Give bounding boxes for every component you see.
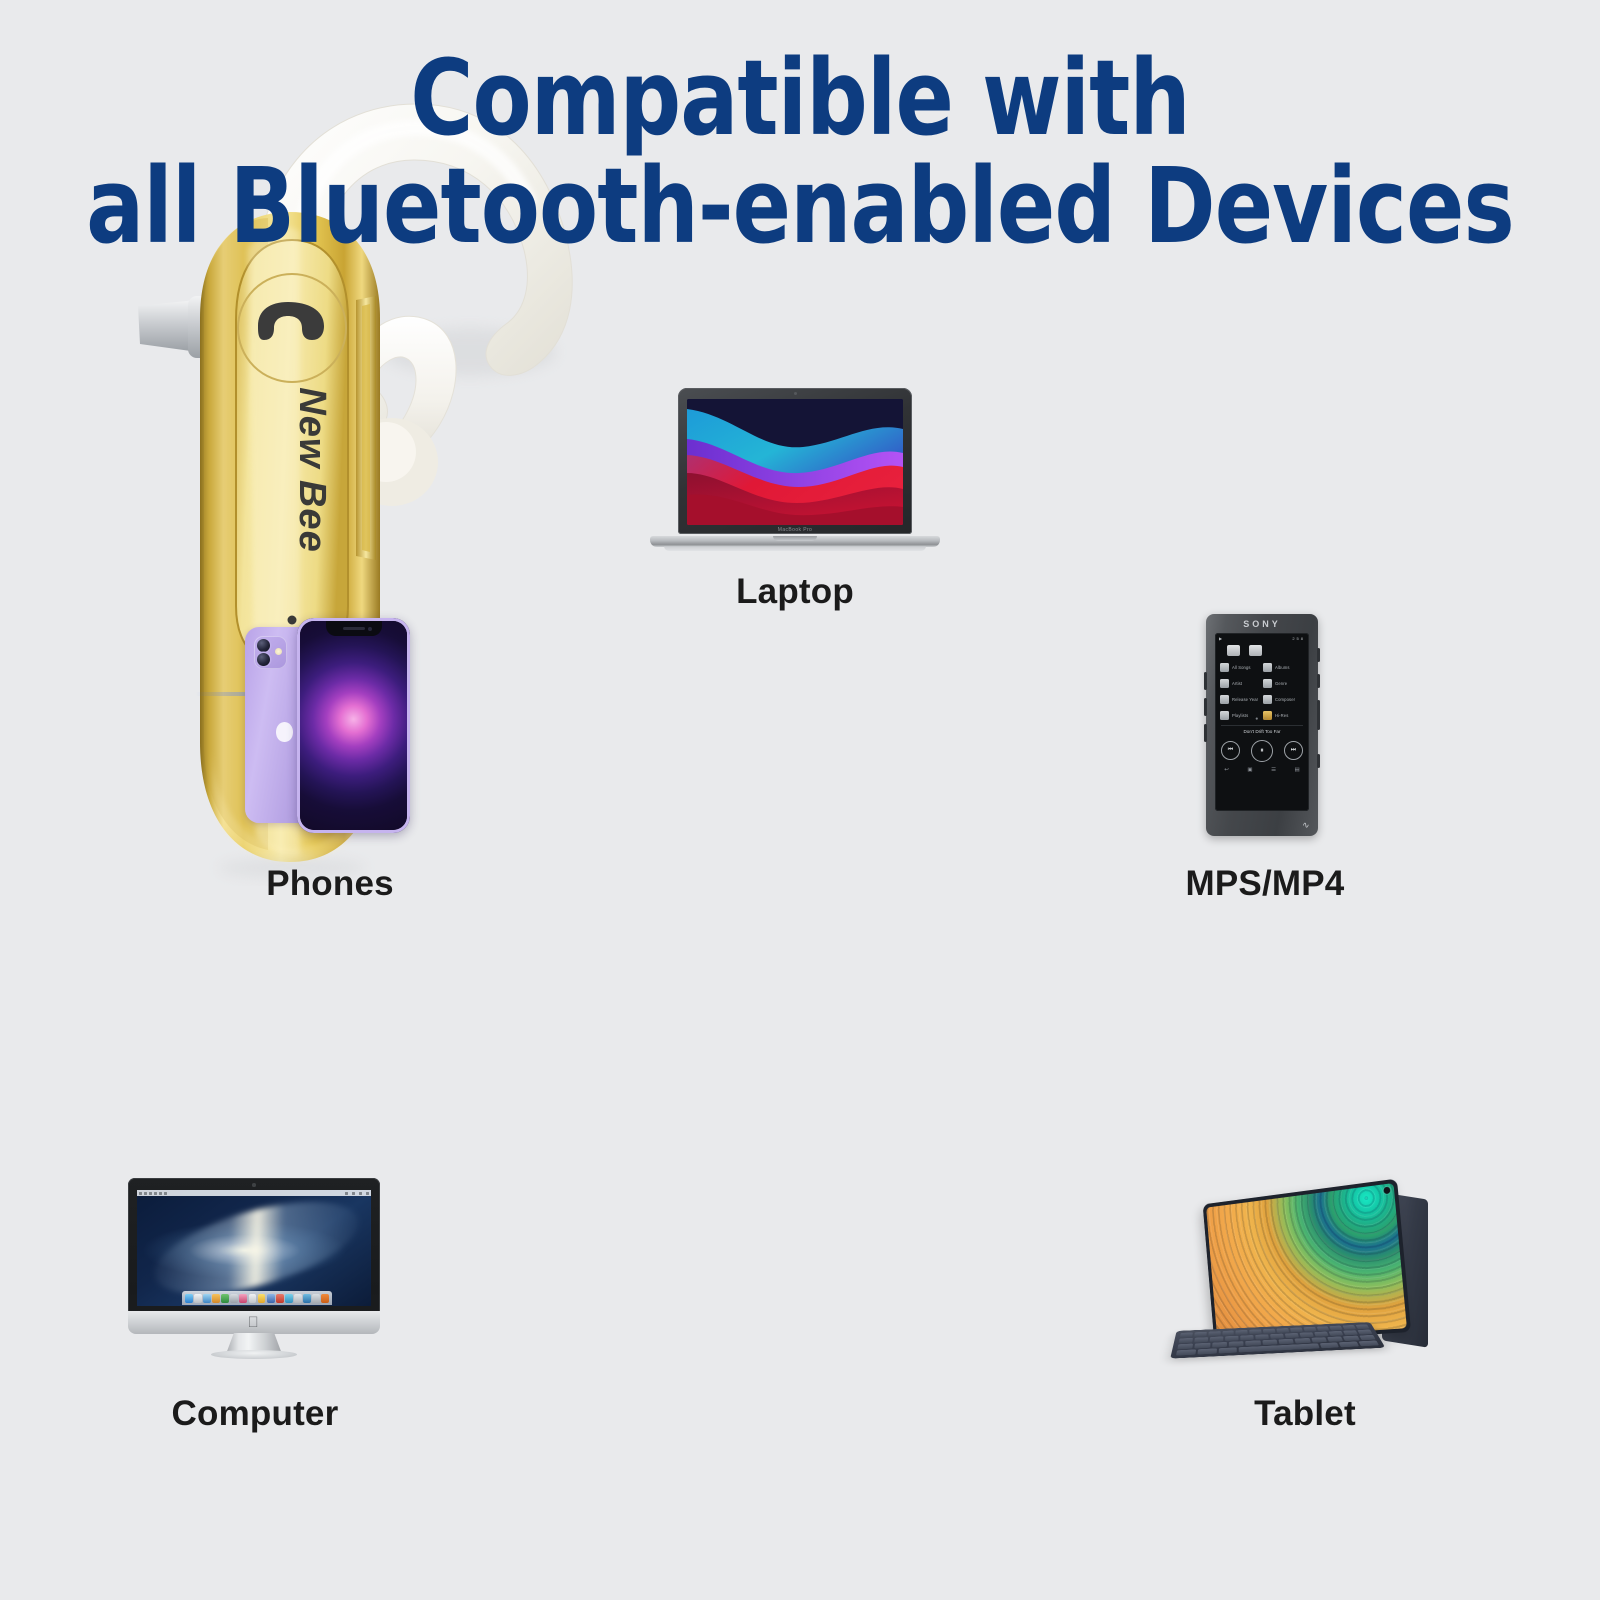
pause-button[interactable]: ⏸	[1251, 740, 1273, 762]
camera-lens-icon	[257, 639, 270, 652]
walkman-left-button[interactable]	[1204, 698, 1207, 716]
walkman-status-bar: ▶ 258	[1215, 633, 1309, 644]
menu-item-label: Artist	[1232, 681, 1242, 686]
macbook-pro-icon: MacBook Pro	[678, 388, 912, 534]
laptop-screen	[687, 399, 903, 525]
macos-menu-bar	[137, 1190, 371, 1196]
list-icon[interactable]: ☰	[1271, 767, 1276, 773]
iphone-notch	[326, 621, 382, 636]
walkman-power-button[interactable]	[1317, 754, 1320, 768]
previous-track-button[interactable]: ⏮	[1221, 741, 1240, 760]
back-icon[interactable]: ↩	[1224, 767, 1229, 773]
music-note-icon	[1220, 663, 1229, 672]
imac-screen	[137, 1190, 371, 1306]
person-icon	[1220, 679, 1229, 688]
menu-item-genre[interactable]: Genre	[1263, 679, 1304, 688]
iphone-camera-module-icon	[254, 636, 287, 669]
walkman-screen[interactable]: ▶ 258 All Songs Albums Artist	[1215, 633, 1309, 811]
soft-key-row: ↩ ▣ ☰ ▤	[1215, 767, 1309, 773]
tablet-icon	[1203, 1179, 1412, 1345]
walkman-shortcut-row	[1215, 645, 1309, 656]
pen-icon	[1263, 695, 1272, 704]
earpiece-speaker-icon	[343, 627, 365, 630]
bigsur-wallpaper	[687, 399, 903, 525]
macos-dock[interactable]	[182, 1291, 332, 1305]
device-mps-mp4: SONY ▶ 258 All Songs	[1206, 614, 1318, 836]
walkman-left-button[interactable]	[1204, 724, 1207, 742]
page-title-line-2: all Bluetooth-enabled Devices	[64, 152, 1536, 260]
playback-controls: ⏮ ⏸ ⏭	[1215, 741, 1309, 762]
brand-label: New Bee	[291, 387, 333, 552]
walkman-volume-button[interactable]	[1317, 700, 1320, 730]
tablet-screen	[1206, 1183, 1407, 1341]
menu-item-albums[interactable]: Albums	[1263, 663, 1304, 672]
galaxy-wallpaper	[145, 1190, 368, 1306]
camera-lens-icon	[257, 653, 270, 666]
options-icon[interactable]: ▤	[1295, 767, 1300, 773]
laptop-webcam-icon	[794, 392, 797, 395]
tablet-wallpaper-highlights	[1206, 1183, 1407, 1341]
menu-item-label: Composer	[1275, 697, 1295, 702]
imac-webcam-icon	[252, 1183, 256, 1187]
menu-item-all-songs[interactable]: All Songs	[1220, 663, 1261, 672]
now-playing-title: Don't Drift Too Far	[1215, 729, 1309, 734]
walkman-menu-grid: All Songs Albums Artist Genre Release Ye…	[1220, 663, 1304, 720]
menu-item-label: Release Year	[1232, 697, 1258, 702]
laptop-screen-caption: MacBook Pro	[678, 527, 912, 533]
device-label-laptop: Laptop	[620, 572, 970, 612]
album-icon	[1263, 663, 1272, 672]
iphone-front	[297, 618, 410, 833]
divider	[1221, 725, 1303, 726]
sony-walkman-icon: SONY ▶ 258 All Songs	[1206, 614, 1318, 836]
walkman-logo-icon: ∿	[1302, 820, 1310, 831]
laptop-base-notch	[773, 536, 817, 541]
device-computer: 	[128, 1178, 380, 1354]
laptop-foot	[664, 546, 926, 551]
sony-brand-label: SONY	[1206, 619, 1318, 629]
walkman-left-button[interactable]	[1204, 672, 1207, 690]
menu-item-release-year[interactable]: Release Year	[1220, 695, 1261, 704]
device-tablet	[1172, 1178, 1434, 1353]
device-label-tablet: Tablet	[1130, 1394, 1480, 1434]
menu-item-artist[interactable]: Artist	[1220, 679, 1261, 688]
iphone-wallpaper	[300, 621, 407, 830]
imac-stand-base	[211, 1350, 297, 1359]
device-phones	[245, 618, 410, 833]
message-icon[interactable]	[1249, 645, 1262, 656]
device-label-phones: Phones	[155, 864, 505, 904]
calendar-icon	[1220, 695, 1229, 704]
page-indicator: ● ○	[1215, 716, 1309, 722]
apple-logo-icon	[276, 722, 293, 742]
walkman-right-button[interactable]	[1317, 674, 1320, 688]
volume-button-inset	[362, 304, 370, 552]
camera-flash-icon	[275, 648, 282, 655]
status-battery-label: 258	[1292, 636, 1305, 641]
imac-icon	[128, 1178, 380, 1315]
apple-logo-icon: 	[248, 1315, 261, 1330]
tablet-keyboard[interactable]	[1170, 1322, 1385, 1359]
device-label-mps-mp4: MPS/MP4	[1090, 864, 1440, 904]
status-play-icon: ▶	[1219, 636, 1222, 641]
next-track-button[interactable]: ⏭	[1284, 741, 1303, 760]
imac-chin: 	[128, 1311, 380, 1334]
device-label-computer: Computer	[80, 1394, 430, 1434]
walkman-right-button[interactable]	[1317, 648, 1320, 662]
radio-icon[interactable]	[1227, 645, 1240, 656]
menu-item-label: Genre	[1275, 681, 1287, 686]
front-camera-icon	[368, 627, 372, 631]
menu-item-label: Albums	[1275, 665, 1290, 670]
menu-item-composer[interactable]: Composer	[1263, 695, 1304, 704]
album-art-icon[interactable]: ▣	[1247, 767, 1252, 773]
page-title: Compatible with all Bluetooth-enabled De…	[64, 44, 1536, 260]
menu-item-label: All Songs	[1232, 665, 1251, 670]
genre-grid-icon	[1263, 679, 1272, 688]
page-title-line-1: Compatible with	[64, 44, 1536, 152]
device-laptop: MacBook Pro	[650, 388, 940, 553]
